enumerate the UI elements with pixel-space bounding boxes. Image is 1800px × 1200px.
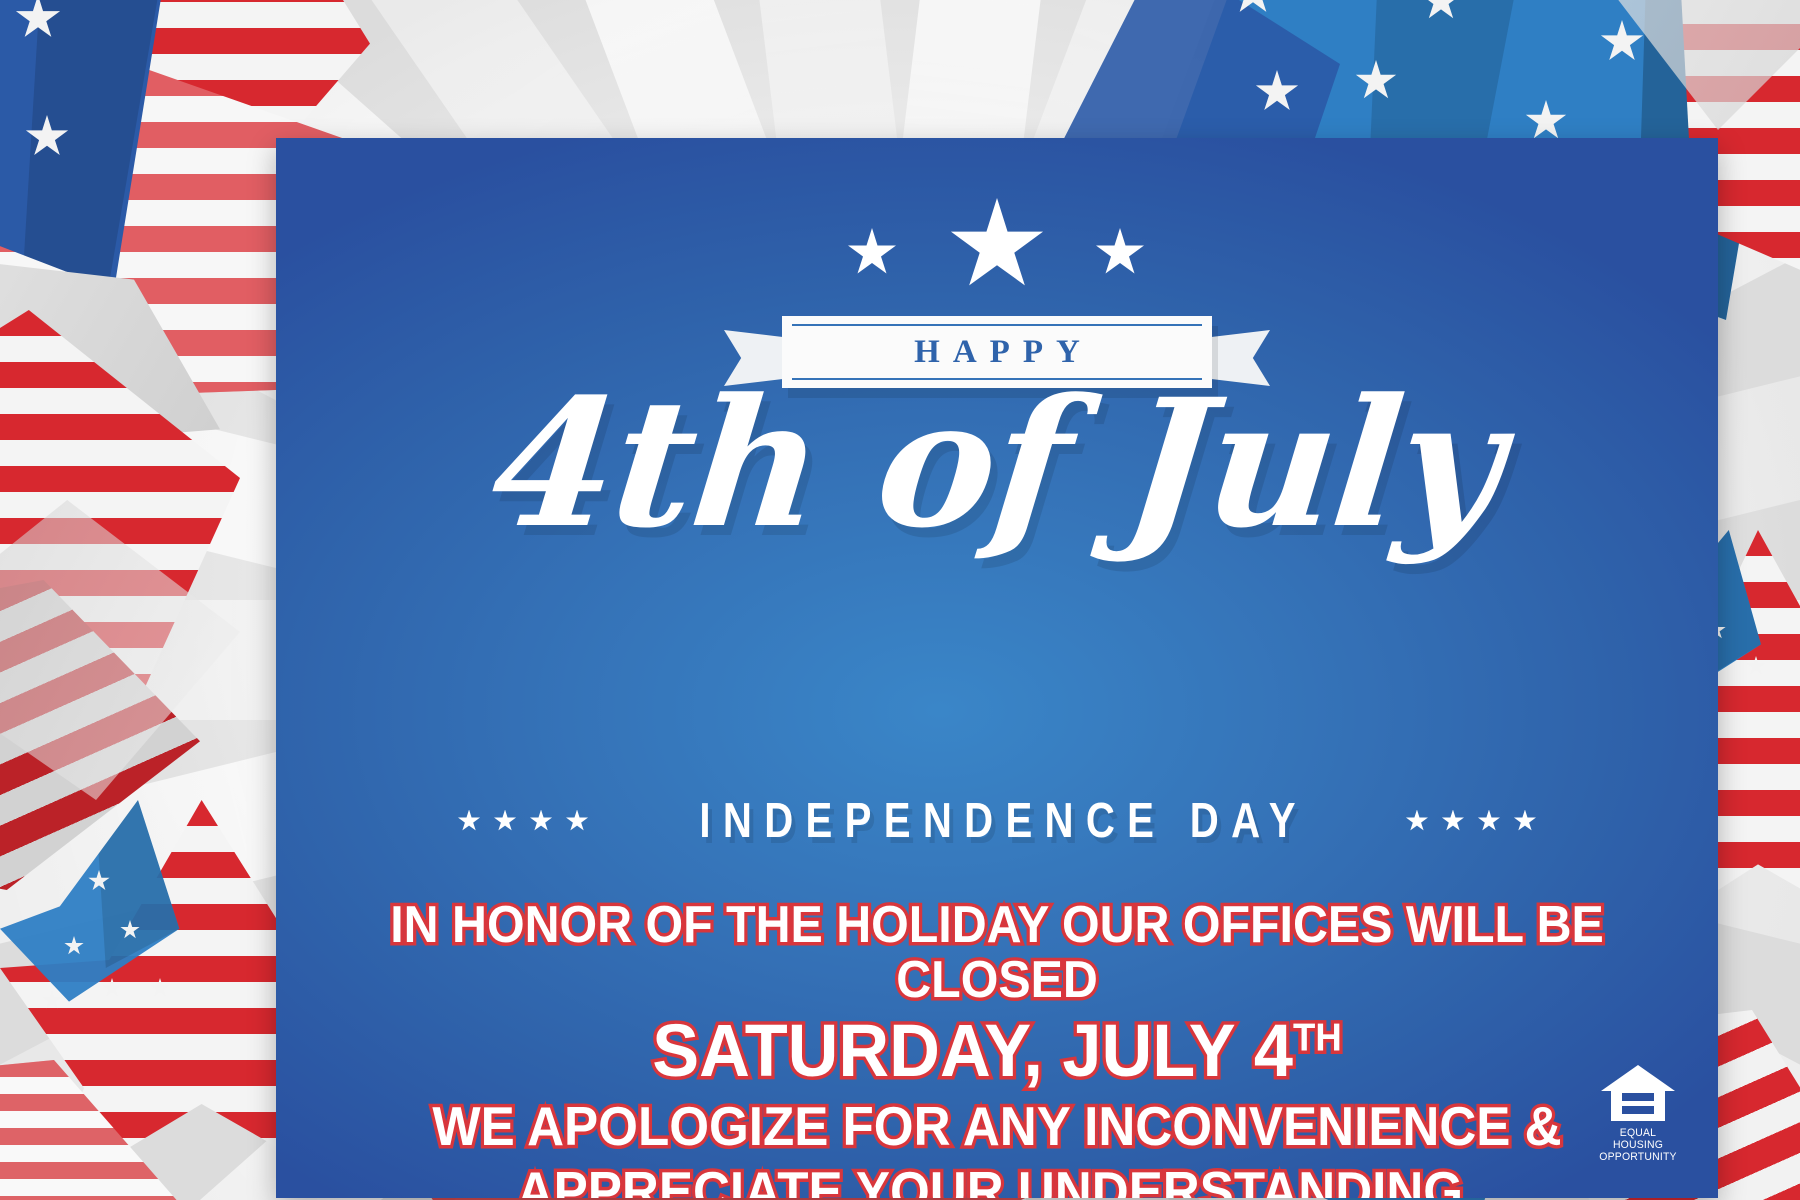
announcement-panel: HAPPY 4th of July INDEPENDENCE DAY [276, 138, 1718, 1198]
star-icon [494, 810, 517, 833]
house-equal-icon [1599, 1063, 1677, 1125]
star-icon [1477, 810, 1500, 833]
star-icon [1513, 810, 1536, 833]
star-icon [530, 810, 553, 833]
notice-line-4: APPRECIATE YOUR UNDERSTANDING. [517, 1161, 1478, 1198]
notice-line-3: WE APOLOGIZE FOR ANY INCONVENIENCE & [432, 1096, 1561, 1158]
star-icon [1441, 810, 1464, 833]
notice-date-ordinal: TH [1293, 1017, 1342, 1060]
star-icon [566, 810, 589, 833]
equal-housing-opportunity-logo: EQUAL HOUSING OPPORTUNITY [1592, 1063, 1684, 1164]
closure-notice: IN HONOR OF THE HOLIDAY OUR OFFICES WILL… [276, 898, 1718, 1198]
top-star-trio [276, 198, 1718, 308]
star-small-right [1095, 228, 1145, 278]
subtitle-text: INDEPENDENCE DAY [687, 793, 1308, 849]
star-icon [1405, 810, 1428, 833]
subtitle-row: INDEPENDENCE DAY [276, 793, 1718, 849]
star-row-left [458, 810, 589, 833]
notice-line-2: SATURDAY, JULY 4TH [652, 1010, 1341, 1091]
star-large-center [949, 198, 1045, 294]
logo-caption-line-2: OPPORTUNITY [1594, 1152, 1681, 1164]
star-row-right [1405, 810, 1536, 833]
star-small-left [847, 228, 897, 278]
logo-caption-line-1: EQUAL HOUSING [1594, 1128, 1681, 1152]
holiday-closure-poster: HAPPY 4th of July INDEPENDENCE DAY [0, 0, 1800, 1200]
page-title: 4th of July [276, 376, 1718, 552]
notice-date: SATURDAY, JULY 4 [652, 1009, 1293, 1092]
star-icon [458, 810, 481, 833]
notice-line-1: IN HONOR OF THE HOLIDAY OUR OFFICES WILL… [326, 898, 1667, 1008]
